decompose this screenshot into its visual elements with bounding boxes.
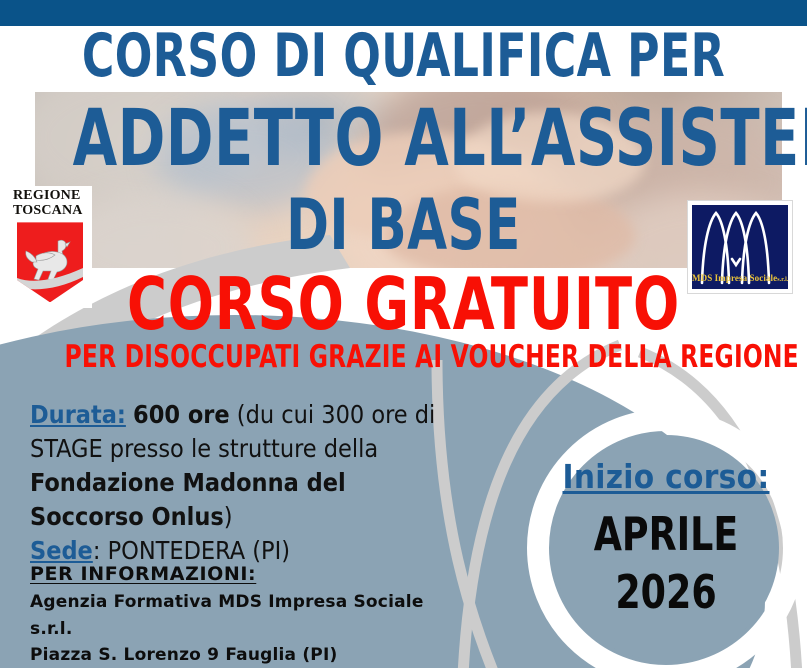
contact-organisation: Agenzia Formativa MDS Impresa Sociale s.… xyxy=(30,589,470,642)
headline-line-2: ADDETTO ALL’ASSISTENZA xyxy=(73,100,735,178)
fondazione-name: Fondazione Madonna del Soccorso Onlus xyxy=(30,468,346,531)
pegasus-icon xyxy=(17,222,83,302)
durata-value: 600 ore xyxy=(133,400,230,429)
start-date-month: APRILE xyxy=(567,506,766,564)
detail-row-durata: Durata: 600 ore (du cui 300 ore di xyxy=(30,398,450,432)
regione-toscana-logo: REGIONE TOSCANA xyxy=(8,186,92,308)
poster: CORSO DI QUALIFICA PER ADDETTO ALL’ASSIS… xyxy=(0,0,807,668)
durata-note-mid: STAGE presso le strutture della xyxy=(30,434,378,463)
start-date-year: 2026 xyxy=(567,564,766,622)
poster-content: CORSO DI QUALIFICA PER ADDETTO ALL’ASSIS… xyxy=(0,0,807,668)
durata-note-open: (du cui 300 ore di xyxy=(237,400,436,429)
contact-block: PER INFORMAZIONI: Agenzia Formativa MDS … xyxy=(30,560,470,668)
mds-logo: MDS Impresa Sociales.r.l. xyxy=(687,200,793,294)
contact-heading: PER INFORMAZIONI: xyxy=(30,560,470,589)
headline-line-3: DI BASE xyxy=(73,190,735,260)
mds-caption-text: MDS Impresa Sociale xyxy=(692,273,777,283)
contact-address: Piazza S. Lorenzo 9 Fauglia (PI) xyxy=(30,642,470,668)
detail-row-stage: STAGE presso le strutture della Fondazio… xyxy=(30,432,450,534)
course-details: Durata: 600 ore (du cui 300 ore di STAGE… xyxy=(30,398,450,568)
start-date-label: Inizio corso: xyxy=(553,457,779,496)
mds-caption-suffix: s.r.l. xyxy=(777,277,788,283)
durata-note-close: ) xyxy=(224,502,233,531)
start-date-badge: Inizio corso: APRILE 2026 xyxy=(553,435,779,661)
promo-free-course: CORSO GRATUITO xyxy=(65,268,743,340)
promo-voucher-note: PER DISOCCUPATI GRAZIE AI VOUCHER DELLA … xyxy=(65,342,743,373)
durata-label: Durata: xyxy=(30,400,126,429)
regione-toscana-line-2: TOSCANA xyxy=(13,204,92,219)
regione-toscana-line-1: REGIONE xyxy=(13,189,92,204)
headline-line-1: CORSO DI QUALIFICA PER xyxy=(73,26,735,86)
